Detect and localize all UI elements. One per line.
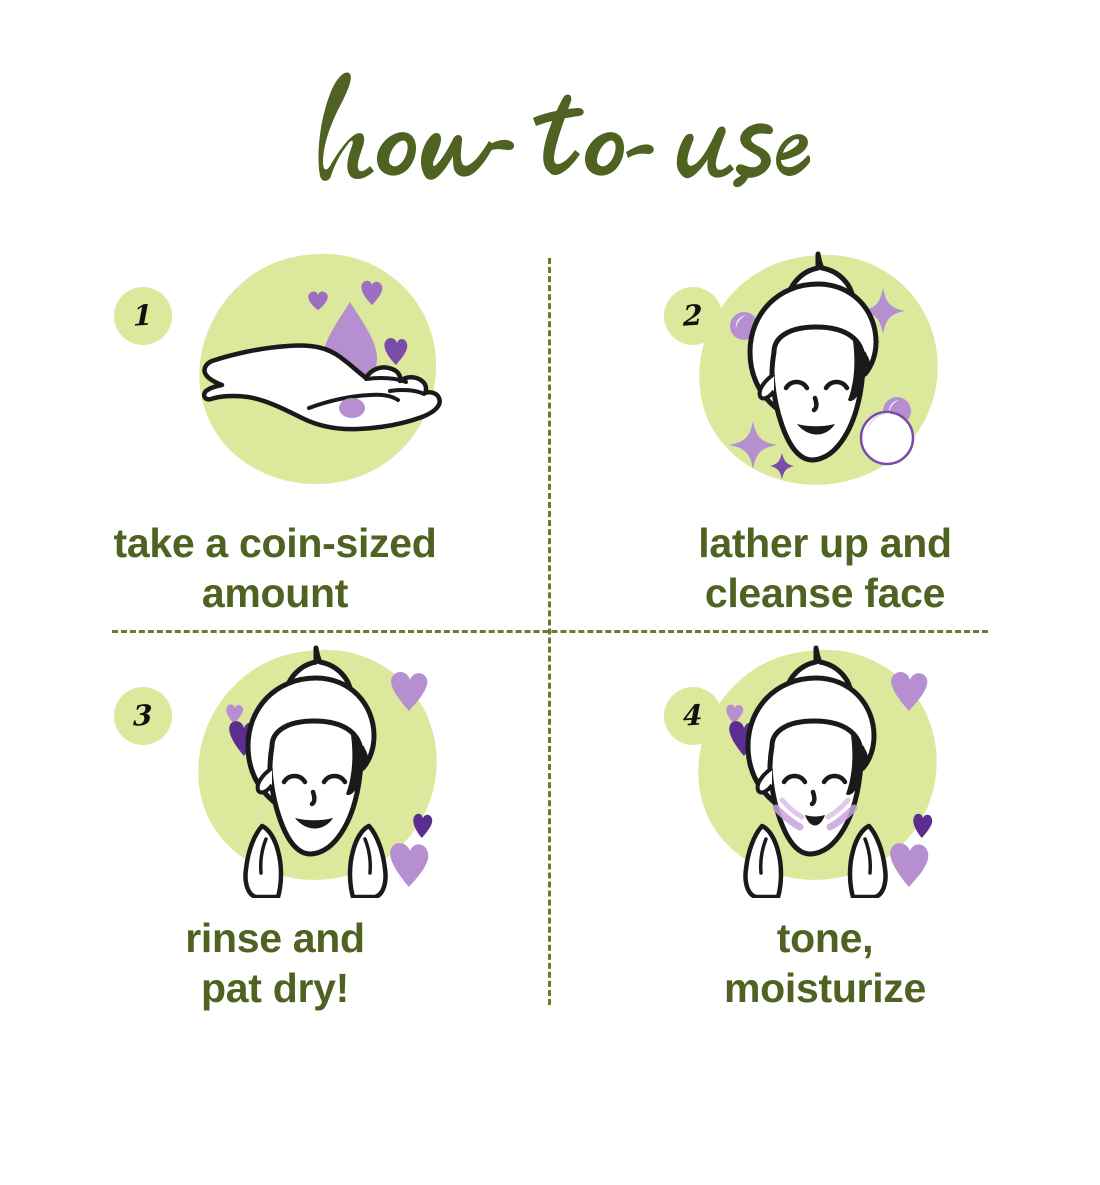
step-4-caption-line-1: tone, (575, 913, 1075, 963)
step-1-caption-line-1: take a coin-sized (25, 518, 525, 568)
step-3-caption-line-2: pat dry! (25, 963, 525, 1013)
step-2-caption-line-1: lather up and (575, 518, 1075, 568)
step-3-caption-line-1: rinse and (25, 913, 525, 963)
step-4: 4 (550, 635, 1100, 1185)
step-3: 3 (0, 635, 550, 1185)
step-1-number-badge: 1 (114, 287, 172, 345)
step-1-caption: take a coin-sized amount (25, 518, 525, 618)
step-4-caption-line-2: moisturize (575, 963, 1075, 1013)
step-4-caption: tone, moisturize (575, 913, 1075, 1013)
face-hands-hearts-icon (178, 643, 458, 898)
step-3-number-badge: 3 (114, 687, 172, 745)
step-1-caption-line-2: amount (25, 568, 525, 618)
step-3-caption: rinse and pat dry! (25, 913, 525, 1013)
step-2-caption: lather up and cleanse face (575, 518, 1075, 618)
how-to-use-infographic: how to use (0, 0, 1100, 1100)
page-title: how to use (0, 58, 1100, 193)
step-1-number: 1 (133, 301, 152, 330)
title-script-text: how to use (290, 58, 810, 188)
hand-with-droplet-icon (178, 248, 458, 503)
step-2-caption-line-2: cleanse face (575, 568, 1075, 618)
face-blush-hearts-icon (678, 643, 958, 898)
step-3-number: 3 (133, 701, 152, 730)
face-lathering-sparkles-icon (678, 248, 958, 503)
